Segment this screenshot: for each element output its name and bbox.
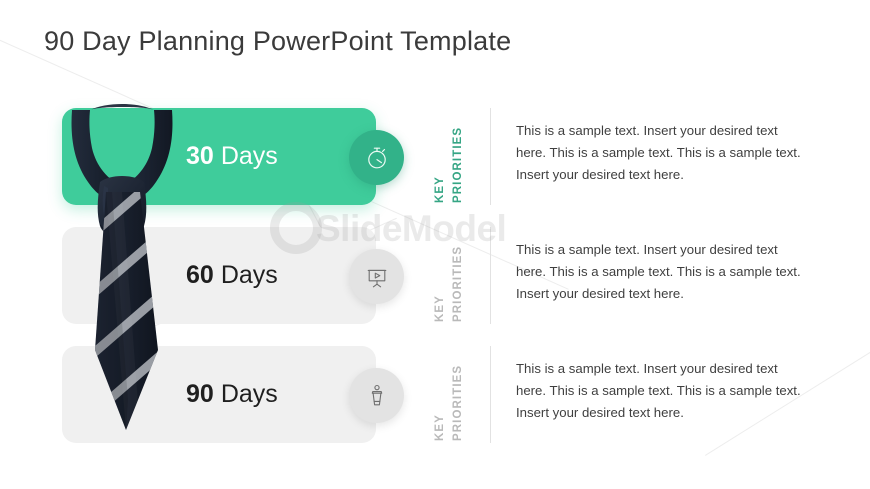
key-priorities-vertical-label: KEY PRIORITIES <box>438 227 486 324</box>
slide-canvas: 90 Day Planning PowerPoint Template 30 D… <box>0 0 870 489</box>
stopwatch-icon <box>363 144 391 172</box>
vertical-label-line-1: KEY <box>434 295 446 322</box>
milestone-label-30-days: 30 Days <box>186 108 278 205</box>
vertical-divider <box>490 108 491 205</box>
podium-speaker-icon-badge[interactable] <box>349 368 404 423</box>
vertical-label-line-2: PRIORITIES <box>452 365 464 441</box>
body-text-30-days: This is a sample text. Insert your desir… <box>516 120 808 185</box>
vertical-label-line-2: PRIORITIES <box>452 246 464 322</box>
key-priorities-vertical-label: KEY PRIORITIES <box>438 346 486 443</box>
milestone-label-60-days: 60 Days <box>186 227 278 324</box>
vertical-label-line-1: KEY <box>434 414 446 441</box>
vertical-divider <box>490 227 491 324</box>
presentation-screen-icon <box>363 263 391 291</box>
page-title: 90 Day Planning PowerPoint Template <box>44 26 511 57</box>
podium-speaker-icon <box>363 382 391 410</box>
necktie-illustration <box>48 100 196 445</box>
body-text-60-days: This is a sample text. Insert your desir… <box>516 239 808 304</box>
milestone-unit: Days <box>221 261 278 290</box>
stopwatch-icon-badge[interactable] <box>349 130 404 185</box>
vertical-label-line-1: KEY <box>434 176 446 203</box>
vertical-label-line-2: PRIORITIES <box>452 127 464 203</box>
milestone-label-90-days: 90 Days <box>186 346 278 443</box>
key-priorities-vertical-label: KEY PRIORITIES <box>438 108 486 205</box>
presentation-screen-icon-badge[interactable] <box>349 249 404 304</box>
milestone-unit: Days <box>221 142 278 171</box>
body-text-90-days: This is a sample text. Insert your desir… <box>516 358 808 423</box>
milestone-unit: Days <box>221 380 278 409</box>
vertical-divider <box>490 346 491 443</box>
